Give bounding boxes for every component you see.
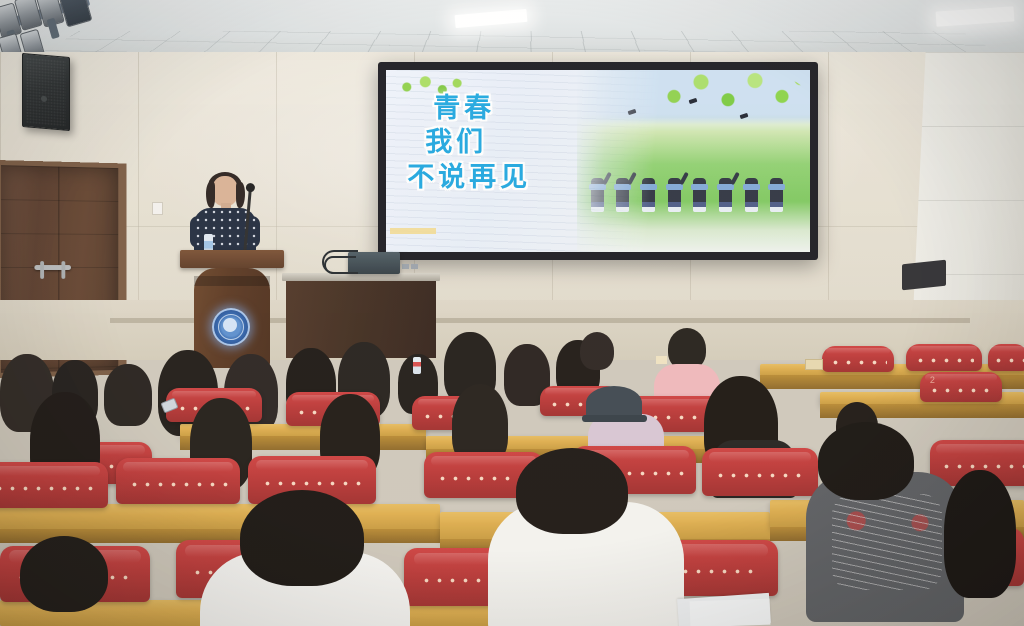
presenter-hair-right	[236, 182, 245, 208]
speaker-driver-icon	[41, 96, 47, 103]
slide-title-line-1: 青春	[407, 92, 627, 127]
audience-row-front	[0, 440, 1024, 626]
screen-display: 青春 我们 不说再见	[386, 70, 810, 252]
student-head-f-center	[516, 448, 628, 534]
slide-title-line-3: 不说再见	[407, 161, 627, 196]
leaf-branch-top-right-icon	[656, 70, 806, 118]
side-equipment-panel	[902, 260, 946, 291]
graduate-6	[719, 178, 732, 212]
drink-bottle[interactable]	[413, 357, 421, 374]
presenter-hair-left	[206, 182, 215, 208]
emblem-core	[223, 318, 237, 332]
screen-button-menu[interactable]	[402, 264, 409, 269]
tee-print-graphic	[832, 494, 942, 590]
podium-shadow-band	[194, 276, 270, 286]
papers-on-desk-top[interactable]	[690, 599, 771, 626]
speaker-grill	[26, 57, 66, 126]
av-cable-2	[324, 256, 356, 274]
projection-screen[interactable]: 青春 我们 不说再见	[378, 62, 818, 260]
graduate-4	[668, 178, 681, 212]
slide-title-line-2: 我们	[407, 126, 627, 161]
tossed-cap-1	[628, 109, 637, 115]
graduate-7	[745, 178, 758, 212]
graduate-3	[642, 178, 655, 212]
graduate-8	[770, 178, 783, 212]
graduate-5	[693, 178, 706, 212]
door-handle-bar-right	[61, 261, 65, 279]
student-baseball-cap	[586, 386, 642, 420]
wall-switch[interactable]	[152, 202, 163, 215]
wall-speaker	[22, 53, 70, 131]
slide-accent-strip	[390, 228, 436, 234]
student-head-f-tee	[818, 422, 914, 500]
podium-top	[180, 250, 284, 268]
student-head-bottom-left	[240, 490, 364, 586]
slide-title: 青春 我们 不说再见	[407, 92, 627, 196]
lecture-hall-photo: 青春 我们 不说再见	[0, 0, 1024, 626]
door-handle-bar-left	[40, 261, 44, 279]
student-head-b13	[580, 332, 614, 370]
screen-button-exit[interactable]	[411, 264, 418, 269]
stage-lamp-4	[58, 0, 93, 27]
av-table-top	[282, 273, 440, 281]
student-head-f-right	[944, 470, 1016, 598]
student-head-bottom-far-left	[20, 536, 108, 612]
presenter-head	[212, 176, 238, 206]
